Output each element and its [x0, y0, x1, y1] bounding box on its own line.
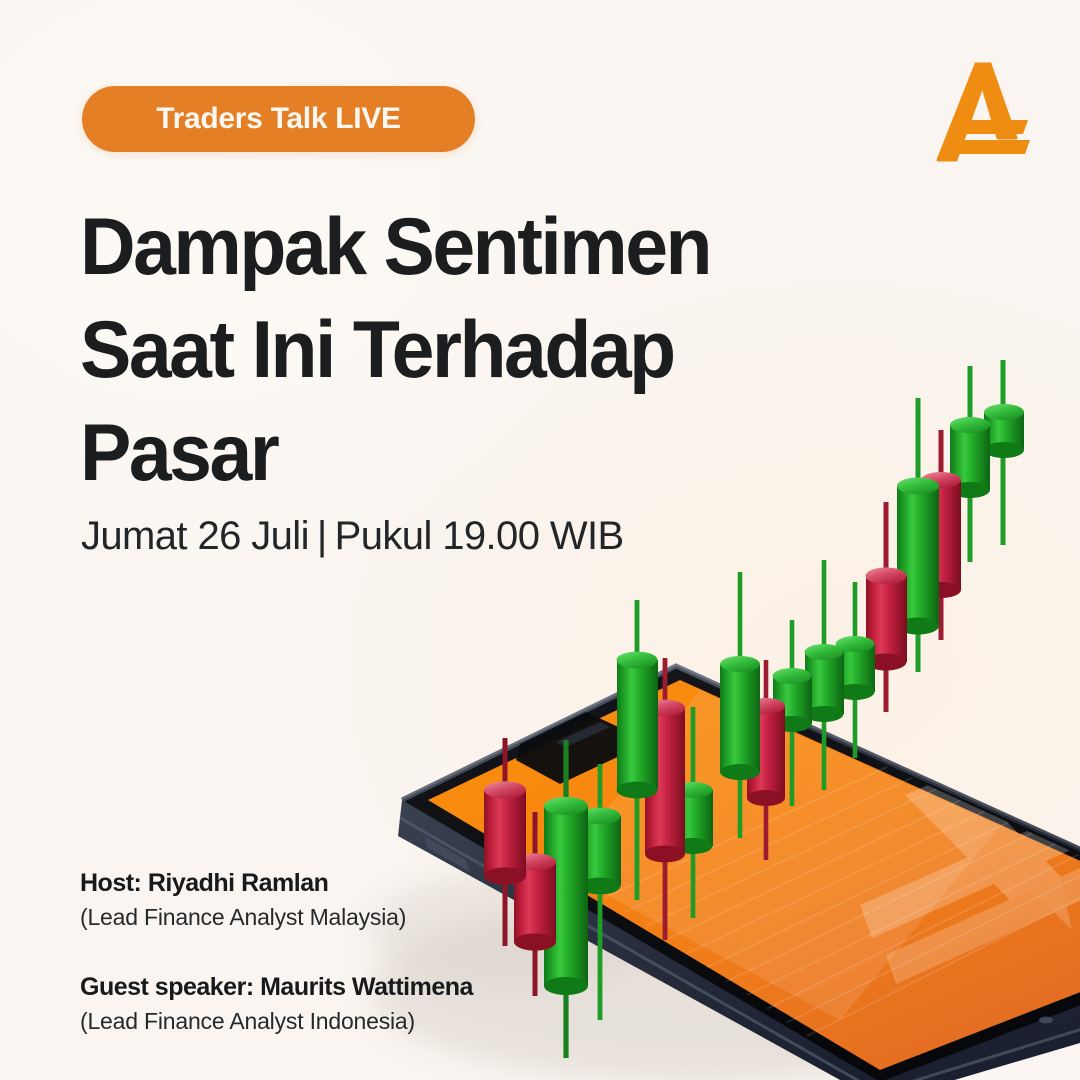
credit-guest: Guest speaker: Maurits Wattimena (Lead F…: [80, 970, 473, 1038]
host-name: Host: Riyadhi Ramlan: [80, 866, 473, 900]
candle-17-up: [984, 360, 1024, 545]
smartphone: [398, 666, 1080, 1080]
guest-role: (Lead Finance Analyst Indonesia): [80, 1004, 473, 1038]
candle-10-up: [773, 620, 813, 806]
candle-13-down: [866, 502, 908, 712]
badge-label: Traders Talk LIVE: [156, 102, 400, 136]
candle-2-down: [514, 812, 556, 996]
datetime-separator: |: [317, 514, 327, 559]
page-title: Dampak Sentimen Saat Ini Terhadap Pasar: [80, 196, 764, 505]
headline-line-1: Dampak Sentimen: [80, 196, 764, 299]
candle-4-up: [580, 764, 622, 1020]
host-role: (Lead Finance Analyst Malaysia): [80, 900, 473, 934]
headline-line-3: Pasar: [80, 402, 764, 505]
candle-14-up: [897, 398, 939, 672]
candle-1-down: [484, 738, 526, 946]
candle-11-up: [805, 560, 845, 790]
candle-16-up: [950, 366, 990, 562]
candle-6-down: [645, 658, 685, 940]
candle-9-down: [747, 660, 785, 860]
candle-3-up: [544, 740, 588, 1058]
ascendex-a-logo-icon: [930, 58, 1036, 166]
candle-7-up: [674, 707, 714, 918]
event-time: Pukul 19.00 WIB: [335, 514, 624, 558]
event-date: Jumat 26 Juli: [81, 514, 309, 558]
headline-line-2: Saat Ini Terhadap: [80, 299, 764, 402]
speaker-credits: Host: Riyadhi Ramlan (Lead Finance Analy…: [80, 866, 473, 1038]
guest-name: Guest speaker: Maurits Wattimena: [80, 970, 473, 1004]
poster-canvas: Traders Talk LIVE Dampak Sentimen Saat I…: [0, 0, 1080, 1080]
candle-12-up: [836, 582, 876, 758]
event-datetime: Jumat 26 Juli|Pukul 19.00 WIB: [81, 514, 624, 559]
candle-15-down: [921, 430, 961, 640]
candle-8-up: [720, 572, 760, 838]
traders-talk-live-badge[interactable]: Traders Talk LIVE: [82, 86, 475, 152]
candle-5-up: [617, 600, 659, 900]
credit-host: Host: Riyadhi Ramlan (Lead Finance Analy…: [80, 866, 473, 934]
